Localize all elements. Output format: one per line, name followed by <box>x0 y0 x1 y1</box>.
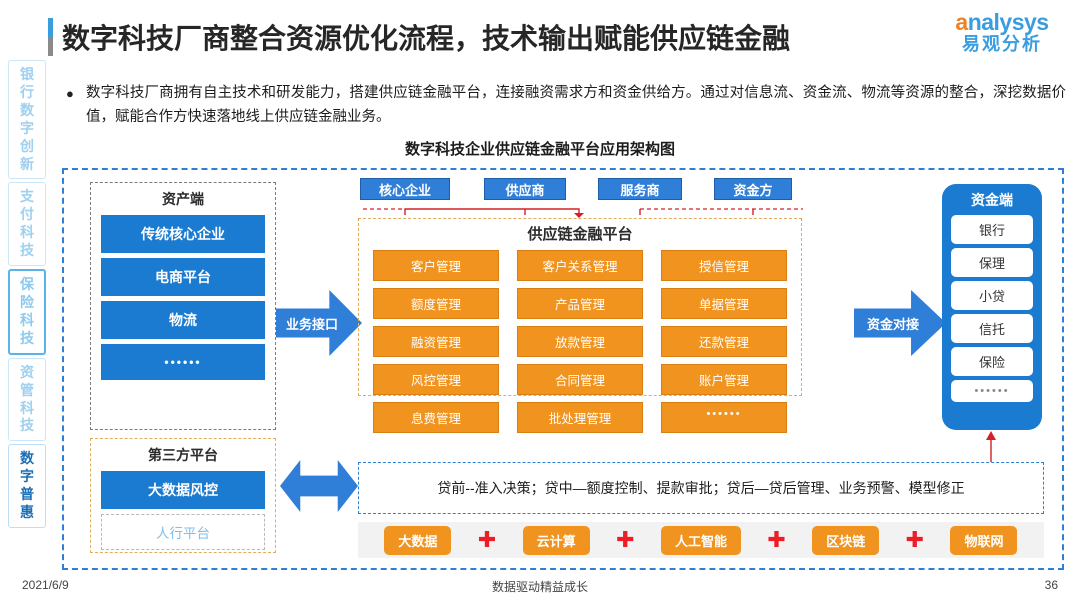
sidebar-item-insurance-tech[interactable]: 保险科技 <box>8 269 46 355</box>
plus-icon-4: ✚ <box>906 529 924 551</box>
role-box-service-provider[interactable]: 服务商 <box>598 178 682 200</box>
platform-module-grid: 客户管理 客户关系管理 授信管理 额度管理 产品管理 单据管理 融资管理 放款管… <box>359 250 801 433</box>
module-product-management[interactable]: 产品管理 <box>517 288 643 319</box>
tech-chip-big-data[interactable]: 大数据 <box>384 526 451 555</box>
logo-wordmark: analysys <box>942 10 1062 34</box>
diagram-caption: 数字科技企业供应链金融平台应用架构图 <box>0 138 1080 159</box>
fund-item-insurance[interactable]: 保险 <box>951 347 1033 376</box>
fund-item-bank[interactable]: 银行 <box>951 215 1033 244</box>
bidirectional-arrow-icon <box>280 460 358 512</box>
sidebar-item-asset-management-tech[interactable]: 资管科技 <box>8 358 46 442</box>
fund-item-trust[interactable]: 信托 <box>951 314 1033 343</box>
loan-lifecycle-box: 贷前--准入决策；贷中—额度控制、提款审批；贷后—贷后管理、业务预警、模型修正 <box>358 462 1044 514</box>
tech-chip-artificial-intelligence[interactable]: 人工智能 <box>661 526 741 555</box>
business-interface-arrow-icon: 业务接口 <box>276 290 362 356</box>
plus-icon-2: ✚ <box>616 529 634 551</box>
module-more[interactable]: •••••• <box>661 402 787 433</box>
asset-item-logistics[interactable]: 物流 <box>101 301 265 339</box>
footer-slogan: 数据驱动精益成长 <box>0 578 1080 595</box>
page-footer: 2021/6/9 数据驱动精益成长 36 <box>0 576 1080 600</box>
technology-stack-strip: 大数据 ✚ 云计算 ✚ 人工智能 ✚ 区块链 ✚ 物联网 <box>358 522 1044 558</box>
sidebar-item-payment-tech[interactable]: 支付科技 <box>8 182 46 266</box>
fund-docking-label: 资金对接 <box>867 314 919 333</box>
logo-letter-a: a <box>955 9 967 35</box>
module-risk-control[interactable]: 风控管理 <box>373 364 499 395</box>
module-batch-processing[interactable]: 批处理管理 <box>517 402 643 433</box>
module-account-management[interactable]: 账户管理 <box>661 364 787 395</box>
role-box-core-enterprise[interactable]: 核心企业 <box>360 178 450 200</box>
business-interface-label: 业务接口 <box>286 314 338 333</box>
sidebar-nav[interactable]: 银行数字创新 支付科技 保险科技 资管科技 数字普惠 <box>8 60 50 531</box>
third-party-panel: 第三方平台 大数据风控 人行平台 <box>90 438 276 553</box>
third-party-title: 第三方平台 <box>101 445 265 465</box>
third-party-item-bigdata-risk-control[interactable]: 大数据风控 <box>101 471 265 509</box>
fund-side-title: 资金端 <box>951 190 1033 210</box>
bullet-marker-icon: ● <box>66 82 86 130</box>
asset-item-ecommerce-platform[interactable]: 电商平台 <box>101 258 265 296</box>
asset-side-title: 资产端 <box>101 189 265 209</box>
fund-item-more[interactable]: •••••• <box>951 380 1033 402</box>
footer-page-number: 36 <box>1045 578 1058 592</box>
analysys-logo: analysys 易观分析 <box>942 10 1062 56</box>
summary-text: 数字科技厂商拥有自主技术和研发能力，搭建供应链金融平台，连接融资需求方和资金供给… <box>86 82 1066 130</box>
tech-chip-cloud-computing[interactable]: 云计算 <box>523 526 590 555</box>
logo-wordmark-rest: nalysys <box>968 9 1049 35</box>
summary-bullet: ● 数字科技厂商拥有自主技术和研发能力，搭建供应链金融平台，连接融资需求方和资金… <box>66 82 1066 130</box>
logo-chinese-name: 易观分析 <box>942 34 1062 56</box>
architecture-diagram: 资产端 传统核心企业 电商平台 物流 •••••• 第三方平台 大数据风控 人行… <box>62 168 1064 570</box>
module-document-management[interactable]: 单据管理 <box>661 288 787 319</box>
module-quota-management[interactable]: 额度管理 <box>373 288 499 319</box>
plus-icon-1: ✚ <box>478 529 496 551</box>
asset-side-panel: 资产端 传统核心企业 电商平台 物流 •••••• <box>90 182 276 430</box>
module-credit-granting[interactable]: 授信管理 <box>661 250 787 281</box>
fund-side-panel: 资金端 银行 保理 小贷 信托 保险 •••••• <box>942 184 1042 430</box>
page-title: 数字科技厂商整合资源优化流程，技术输出赋能供应链金融 <box>62 17 790 57</box>
role-box-capital-party[interactable]: 资金方 <box>714 178 792 200</box>
module-fee-management[interactable]: 息费管理 <box>373 402 499 433</box>
tech-chip-iot[interactable]: 物联网 <box>950 526 1017 555</box>
module-contract-management[interactable]: 合同管理 <box>517 364 643 395</box>
module-repayment-management[interactable]: 还款管理 <box>661 326 787 357</box>
fund-item-factoring[interactable]: 保理 <box>951 248 1033 277</box>
supply-chain-finance-platform-panel: 供应链金融平台 客户管理 客户关系管理 授信管理 额度管理 产品管理 单据管理 … <box>358 218 802 396</box>
module-loan-disbursement[interactable]: 放款管理 <box>517 326 643 357</box>
asset-item-more[interactable]: •••••• <box>101 344 265 380</box>
module-financing-management[interactable]: 融资管理 <box>373 326 499 357</box>
tech-chip-blockchain[interactable]: 区块链 <box>812 526 879 555</box>
fund-item-microloan[interactable]: 小贷 <box>951 281 1033 310</box>
role-box-supplier[interactable]: 供应商 <box>484 178 566 200</box>
fund-docking-arrow-icon: 资金对接 <box>854 290 946 356</box>
third-party-item-pboc-platform[interactable]: 人行平台 <box>101 514 265 550</box>
plus-icon-3: ✚ <box>767 529 785 551</box>
title-accent-bar <box>48 18 53 56</box>
asset-item-traditional-core-enterprise[interactable]: 传统核心企业 <box>101 215 265 253</box>
page-header: 数字科技厂商整合资源优化流程，技术输出赋能供应链金融 analysys 易观分析 <box>0 0 1080 68</box>
sidebar-item-bank-digital-innovation[interactable]: 银行数字创新 <box>8 60 46 179</box>
module-crm[interactable]: 客户关系管理 <box>517 250 643 281</box>
role-connector-lines-icon <box>360 200 806 218</box>
platform-title: 供应链金融平台 <box>359 223 801 244</box>
module-customer-management[interactable]: 客户管理 <box>373 250 499 281</box>
sidebar-item-digital-inclusive-finance[interactable]: 数字普惠 <box>8 444 46 528</box>
